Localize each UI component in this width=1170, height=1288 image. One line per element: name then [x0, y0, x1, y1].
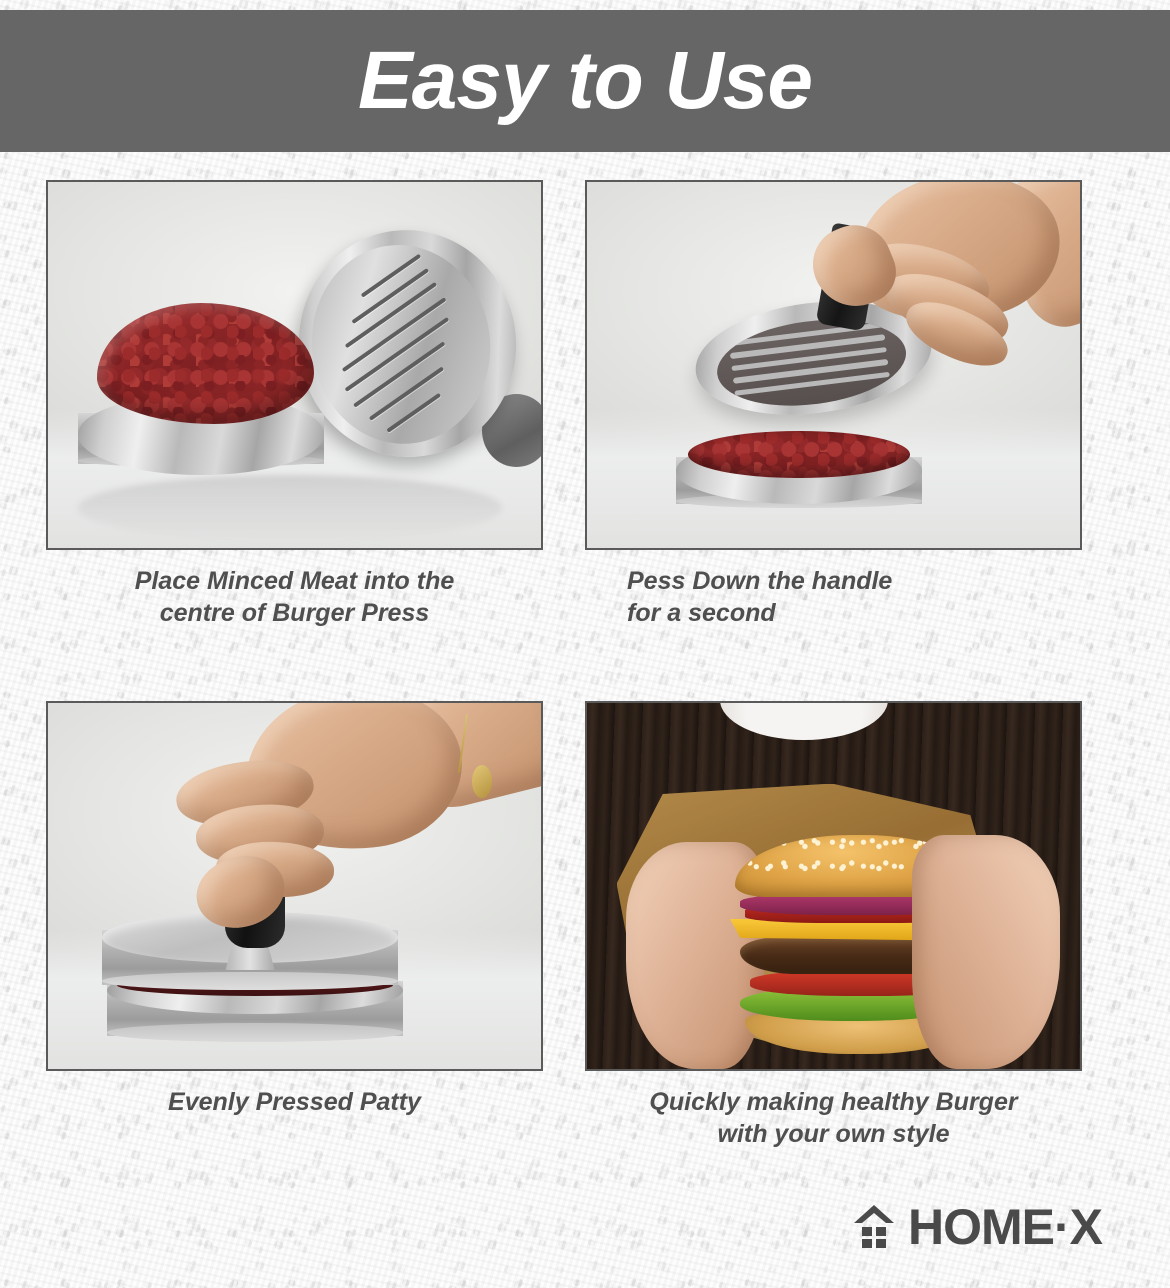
brand-name: HOME·X: [908, 1202, 1102, 1252]
step-photo-1: [46, 180, 543, 550]
bracelet-charm: [472, 765, 492, 798]
step-caption-1: Place Minced Meat into the centre of Bur…: [46, 566, 543, 629]
step-card-4: Quickly making healthy Burger with your …: [585, 701, 1170, 1150]
step-photo-2: [585, 180, 1082, 550]
brand-logo: HOME·X: [852, 1202, 1102, 1252]
page-title: Easy to Use: [358, 40, 812, 122]
hand-right: [912, 835, 1060, 1069]
step-caption-4: Quickly making healthy Burger with your …: [585, 1087, 1082, 1150]
step-card-3: Evenly Pressed Patty: [0, 701, 585, 1150]
step-caption-2: Pess Down the handle for a second: [585, 566, 1082, 629]
step-photo-4: [585, 701, 1082, 1071]
minced-meat: [688, 431, 910, 479]
caption-line-1: Pess Down the handle: [627, 566, 1082, 598]
caption-line-2: centre of Burger Press: [46, 598, 543, 630]
steps-grid: Place Minced Meat into the centre of Bur…: [0, 180, 1170, 1150]
header-banner: Easy to Use: [0, 10, 1170, 152]
caption-line-2: for a second: [627, 598, 1082, 630]
steps-row-2: Evenly Pressed Patty: [0, 701, 1170, 1150]
house-icon: [852, 1203, 896, 1251]
steps-row-1: Place Minced Meat into the centre of Bur…: [0, 180, 1170, 629]
step-caption-3: Evenly Pressed Patty: [46, 1087, 543, 1119]
step-photo-3: [46, 701, 543, 1071]
step-card-1: Place Minced Meat into the centre of Bur…: [0, 180, 585, 629]
step-card-2: Pess Down the handle for a second: [585, 180, 1170, 629]
caption-line-2: with your own style: [585, 1119, 1082, 1151]
caption-line-1: Quickly making healthy Burger: [585, 1087, 1082, 1119]
caption-line-1: Evenly Pressed Patty: [46, 1087, 543, 1119]
caption-line-1: Place Minced Meat into the: [46, 566, 543, 598]
